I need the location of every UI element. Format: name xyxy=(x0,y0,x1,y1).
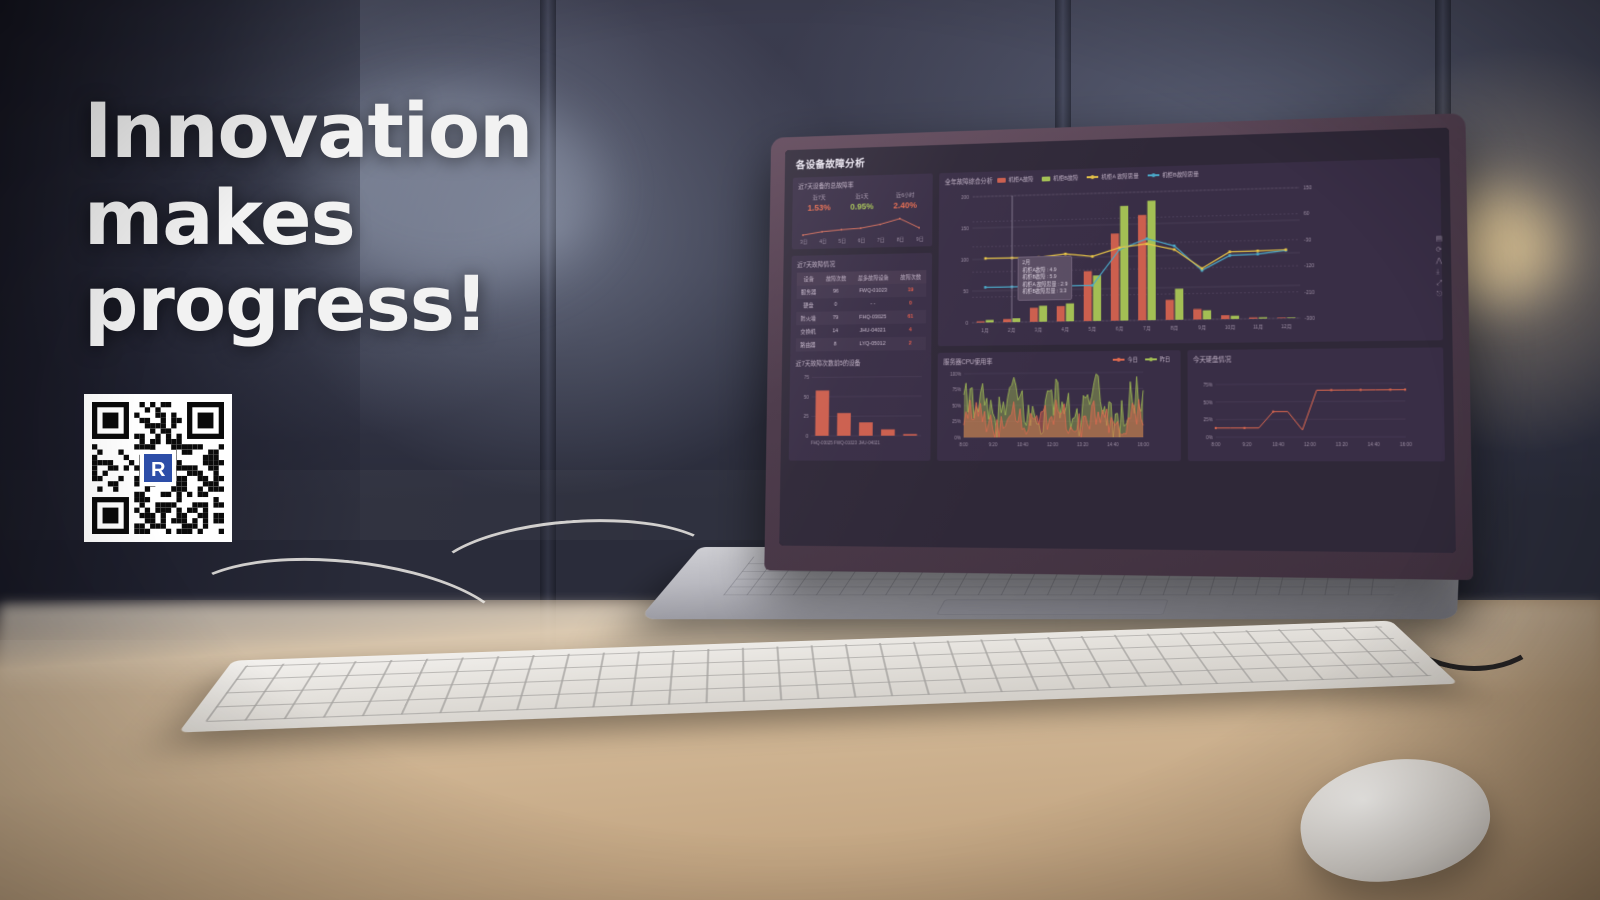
vignette xyxy=(0,0,1600,900)
